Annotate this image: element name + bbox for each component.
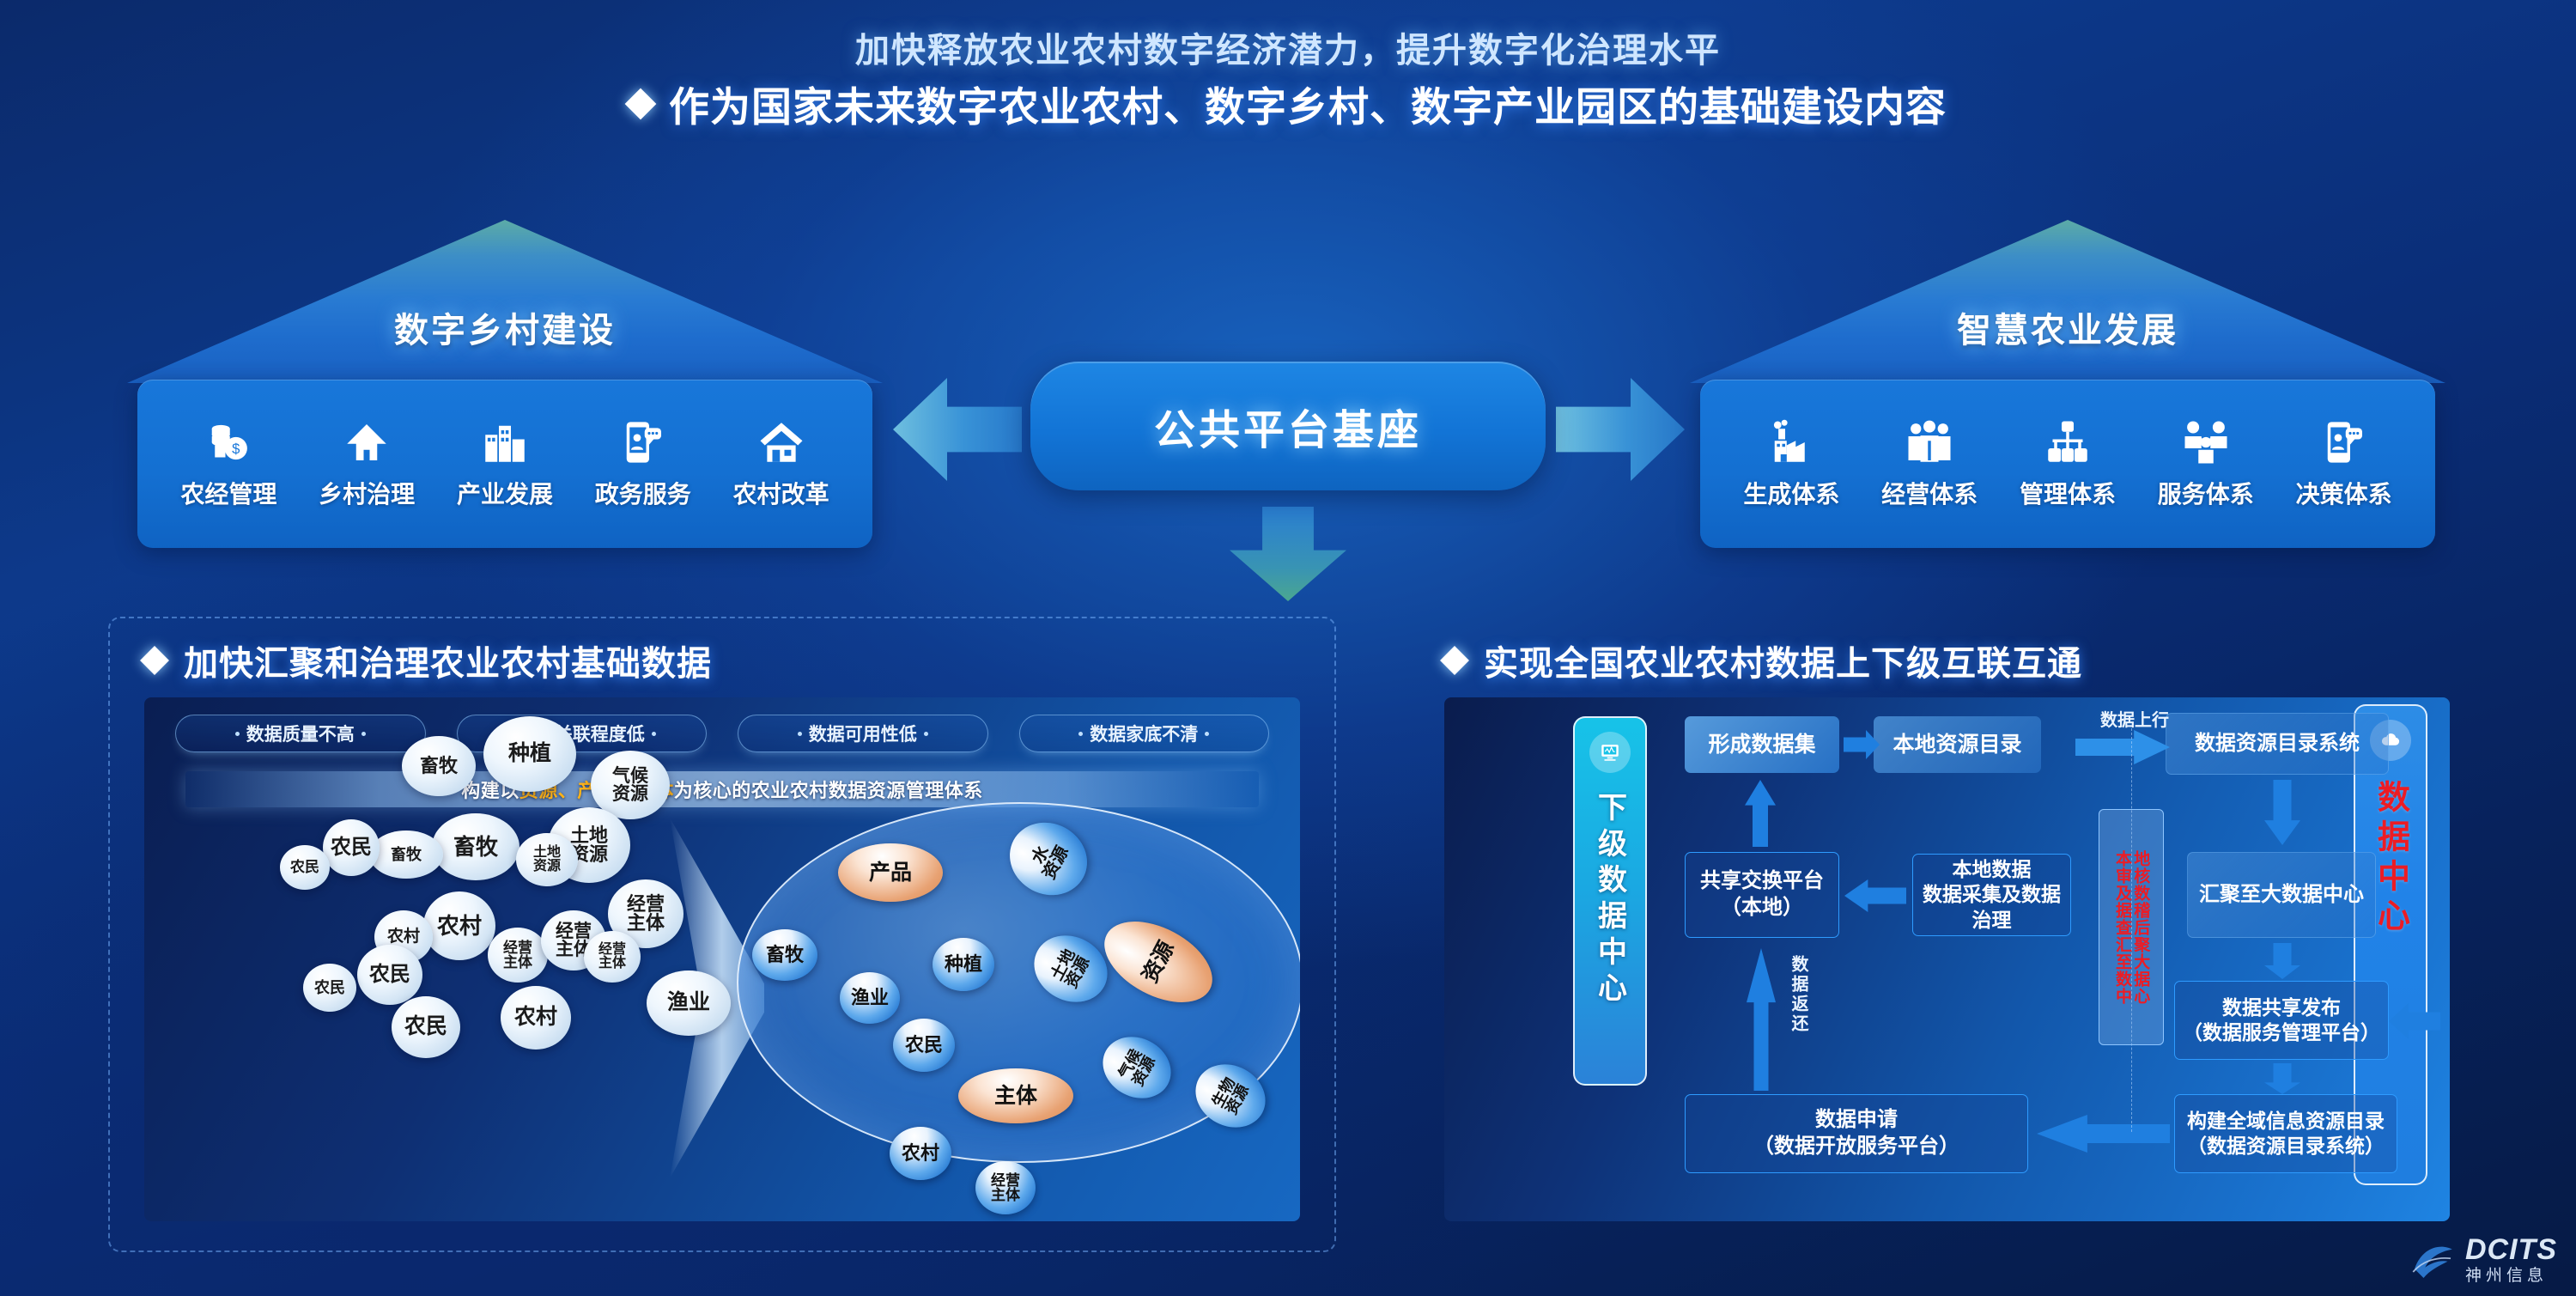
bullet-dot-icon (1205, 732, 1209, 736)
raw-data-bubble: 农村 (423, 891, 495, 960)
buildings-icon (479, 417, 531, 467)
wing-item-label: 农村改革 (733, 476, 829, 510)
core-system-banner: 构建以资源、产品、主体为核心的农业农村数据资源管理体系 (185, 771, 1259, 807)
logo-text: DCITS 神州信息 (2465, 1235, 2557, 1284)
left-wing-items: $ 农经管理 乡村治理 产业发展 政务服务 (137, 380, 872, 548)
wing-item-gov-service[interactable]: 政务服务 (579, 417, 708, 510)
problem-chip-row: 数据质量不高业务关联程度低数据可用性低数据家底不清 (175, 715, 1269, 752)
wing-item-industry-development[interactable]: 产业发展 (440, 417, 569, 510)
raw-data-bubble: 农民 (323, 819, 380, 876)
box-local-data[interactable]: 本地数据 数据采集及数据治理 (1912, 854, 2071, 936)
wing-item-production-system[interactable]: 生成体系 (1727, 417, 1856, 510)
label-data-return: 数据返还 (1786, 955, 1811, 1034)
smart-agriculture-wing: 智慧农业发展 生成体系 经营体系 管理体系 (1690, 220, 2445, 563)
arrow-left-icon (893, 378, 1022, 481)
governed-data-node: 畜牧 (752, 929, 817, 981)
right-panel-header: 实现全国农业农村数据上下级互联互通 (1444, 636, 2082, 685)
lower-data-center-bar[interactable]: 下级数据中心 (1573, 716, 1647, 1086)
wing-item-rural-reform[interactable]: 农村改革 (717, 417, 846, 510)
wing-item-label: 乡村治理 (319, 476, 415, 510)
right-wing-items: 生成体系 经营体系 管理体系 服务体系 (1700, 380, 2435, 548)
slide-canvas: 加快释放农业农村数字经济潜力，提升数字化治理水平 作为国家未来数字农业农村、数字… (0, 0, 2576, 1296)
diamond-bullet-icon (1440, 646, 1469, 675)
data-governance-panel: 加快汇聚和治理农业农村基础数据 数据质量不高业务关联程度低数据可用性低数据家底不… (108, 617, 1336, 1252)
diamond-bullet-icon (625, 88, 657, 119)
governed-data-node: 产品 (838, 843, 943, 902)
governed-data-node: 农村 (890, 1127, 951, 1180)
arrow-aggregate-to-publish (2264, 943, 2300, 979)
arrow-publish-to-global (2264, 1063, 2300, 1094)
raw-data-bubble: 农民 (280, 845, 330, 890)
arrow-right-icon (1556, 378, 1685, 481)
arrow-data-upstream (2075, 730, 2170, 764)
wing-item-label: 服务体系 (2158, 476, 2254, 510)
org-chart-icon (2042, 417, 2093, 467)
svg-text:$: $ (233, 441, 240, 457)
problem-chip-label: 数据质量不高 (246, 721, 355, 746)
wing-item-village-governance[interactable]: 乡村治理 (302, 417, 431, 510)
arrow-down-icon (1230, 507, 1346, 601)
raw-data-bubble: 畜牧 (432, 813, 519, 880)
wing-item-label: 产业发展 (457, 476, 553, 510)
problem-chip[interactable]: 数据可用性低 (738, 715, 988, 752)
mobile-service-icon (2318, 417, 2370, 467)
bullet-dot-icon (652, 732, 656, 736)
wing-item-label: 农经管理 (180, 476, 276, 510)
right-roof-shape (1690, 220, 2445, 383)
audit-note-col-right: 地核数稽后聚大据心 (2131, 850, 2149, 1005)
bullet-dot-icon (924, 732, 928, 736)
box-catalog-system[interactable]: 数据资源目录系统 (2166, 713, 2389, 775)
raw-data-bubble: 农村 (501, 986, 571, 1050)
box-form-dataset[interactable]: 形成数据集 (1685, 716, 1839, 773)
monitor-chart-icon (1589, 732, 1631, 773)
problem-chip[interactable]: 数据家底不清 (1019, 715, 1270, 752)
company-logo: DCITS 神州信息 (2409, 1235, 2557, 1284)
raw-data-bubble: 农民 (303, 964, 356, 1012)
bullet-dot-icon (361, 732, 366, 736)
page-subtitle: 加快释放农业农村数字经济潜力，提升数字化治理水平 (0, 22, 2576, 72)
box-share-platform[interactable]: 共享交换平台 （本地） (1685, 852, 1839, 938)
box-share-publish[interactable]: 数据共享发布 （数据服务管理平台） (2174, 981, 2389, 1060)
data-interconnect-panel: 实现全国农业农村数据上下级互联互通 下级数据中心 数据中心 形成数据集 本地资源… (1408, 617, 2486, 1252)
house-icon (341, 417, 392, 467)
arrow-global-to-request (2037, 1115, 2170, 1153)
raw-data-bubble: 种植 (483, 716, 576, 792)
wing-item-service-system[interactable]: 服务体系 (2142, 417, 2270, 510)
raw-data-bubble: 经营主体 (584, 931, 641, 983)
governed-data-node: 渔业 (840, 972, 900, 1024)
page-title: 作为国家未来数字农业农村、数字乡村、数字产业园区的基础建设内容 (0, 74, 2576, 133)
audit-note-box: 本审及据查汇至数中 地核数稽后聚大据心 (2099, 809, 2164, 1045)
bullet-dot-icon (798, 732, 802, 736)
box-local-catalog[interactable]: 本地资源目录 (1874, 716, 2041, 773)
arrow-localdata-to-share (1844, 879, 1906, 912)
page-title-text: 作为国家未来数字农业农村、数字乡村、数字产业园区的基础建设内容 (669, 74, 1947, 133)
problem-chip-label: 数据可用性低 (809, 721, 917, 746)
raw-data-bubble: 渔业 (647, 970, 731, 1036)
wing-item-management-system[interactable]: 管理体系 (2003, 417, 2132, 510)
digital-village-wing: 数字乡村建设 $ 农经管理 乡村治理 产业发展 (127, 220, 883, 563)
dcits-swirl-icon (2409, 1236, 2457, 1284)
diamond-bullet-icon (140, 646, 169, 675)
audit-note-col-left: 本审及据查汇至数中 (2113, 850, 2131, 1005)
people-network-icon (2180, 417, 2232, 467)
logo-en: DCITS (2465, 1235, 2557, 1264)
factory-icon (1765, 417, 1817, 467)
governed-data-node: 经营主体 (975, 1161, 1036, 1214)
left-wing-title: 数字乡村建设 (127, 302, 883, 352)
arrow-request-to-share (1747, 948, 1776, 1091)
right-panel-body: 下级数据中心 数据中心 形成数据集 本地资源目录 数据资源目录系统 共享交换平台… (1444, 697, 2450, 1221)
raw-data-bubble: 畜牧 (402, 736, 476, 796)
logo-cn: 神州信息 (2465, 1268, 2557, 1284)
public-platform-base[interactable]: 公共平台基座 (1030, 362, 1546, 490)
left-roof-shape (127, 220, 883, 383)
left-panel-header: 加快汇聚和治理农业农村基础数据 (144, 636, 712, 685)
wing-item-operation-system[interactable]: 经营体系 (1865, 417, 1994, 510)
raw-data-bubble: 农民 (357, 945, 422, 1005)
wing-item-label: 生成体系 (1743, 476, 1839, 510)
wing-item-decision-system[interactable]: 决策体系 (2280, 417, 2409, 510)
wing-item-label: 政务服务 (595, 476, 691, 510)
governed-data-node: 主体 (958, 1068, 1073, 1123)
bullet-dot-icon (1078, 732, 1083, 736)
right-wing-title: 智慧农业发展 (1690, 302, 2445, 352)
raw-data-bubble: 土地资源 (516, 833, 578, 886)
wing-item-label: 经营体系 (1881, 476, 1978, 510)
bullet-dot-icon (235, 732, 240, 736)
arrow-share-to-dataset (1745, 780, 1776, 847)
problem-chip-label: 数据家底不清 (1090, 721, 1198, 746)
box-data-request[interactable]: 数据申请 （数据开放服务平台） (1685, 1094, 2028, 1173)
left-panel-title: 加快汇聚和治理农业农村基础数据 (184, 636, 712, 685)
wing-item-label: 决策体系 (2296, 476, 2392, 510)
label-data-upstream: 数据上行 (2100, 706, 2169, 731)
box-aggregate-center[interactable]: 汇聚至大数据中心 (2187, 852, 2376, 938)
problem-chip[interactable]: 数据质量不高 (175, 715, 426, 752)
wing-item-label: 管理体系 (2020, 476, 2116, 510)
lower-data-center-label: 下级数据中心 (1589, 792, 1631, 1008)
wing-item-agri-economy[interactable]: $ 农经管理 (164, 417, 293, 510)
people-group-icon (1904, 417, 1955, 467)
raw-data-bubble: 畜牧 (369, 831, 443, 879)
public-platform-label: 公共平台基座 (1154, 396, 1422, 456)
governed-data-node: 农民 (893, 1019, 955, 1072)
right-panel-title: 实现全国农业农村数据上下级互联互通 (1484, 636, 2082, 685)
left-panel-body: 数据质量不高业务关联程度低数据可用性低数据家底不清 构建以资源、产品、主体为核心… (144, 697, 1300, 1221)
farmhouse-icon (756, 417, 807, 467)
raw-data-bubble: 经营主体 (488, 928, 548, 983)
coins-money-icon: $ (203, 417, 254, 467)
arrow-catalog-to-aggregate (2264, 780, 2300, 845)
governed-data-node: 种植 (933, 938, 994, 991)
raw-data-bubble: 农民 (392, 996, 460, 1058)
mobile-service-icon (617, 417, 669, 467)
box-global-catalog[interactable]: 构建全域信息资源目录 （数据资源目录系统） (2174, 1094, 2397, 1173)
